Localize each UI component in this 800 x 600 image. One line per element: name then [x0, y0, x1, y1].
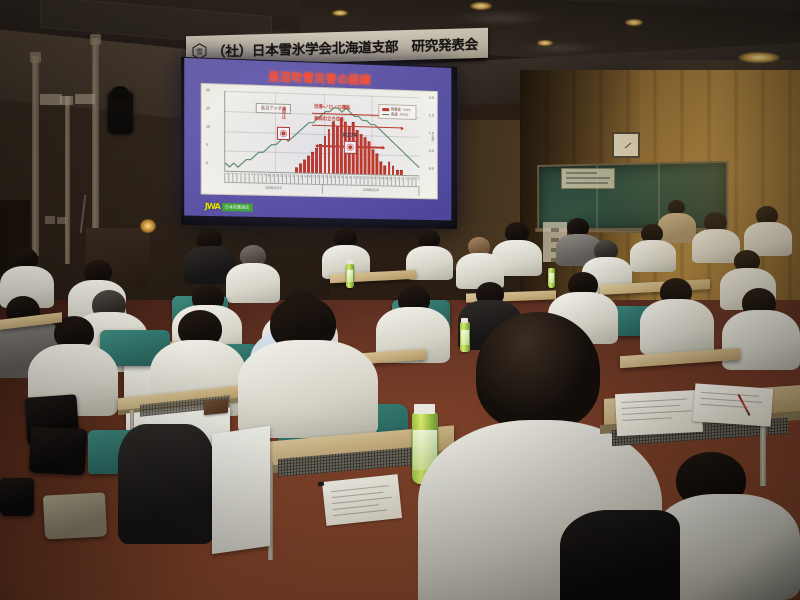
wall-speaker [108, 92, 133, 134]
wall-plate [60, 96, 73, 105]
wall-outlet [57, 217, 66, 224]
ceiling-downlight [332, 10, 348, 16]
bag[interactable] [0, 478, 34, 516]
ceiling-downlight [470, 2, 492, 10]
road-closure-vertical: 通行止 [281, 107, 287, 119]
y-tick-left: 20 [206, 88, 210, 92]
chart-legend: 降雪量（cm） 風速（m/s） [378, 104, 416, 120]
traffic-annotation: 渋滞・ノロノロ運転 [314, 104, 350, 111]
chalkboard-sign [561, 168, 615, 189]
ceiling-downlight [625, 19, 643, 26]
wall-pillar [65, 96, 70, 264]
legend-swatch-line [382, 114, 389, 115]
bottle-cap [414, 404, 435, 414]
slide-chart: 20 15 10 5 0 2.0 1.5 1.0 0.5 0.0 気圧 [201, 83, 438, 200]
y-tick-right: 2.0 [429, 96, 434, 100]
wall-pillar-cap [30, 52, 41, 63]
y-tick-right: 1.5 [429, 113, 434, 117]
bag[interactable] [43, 492, 107, 539]
bottle[interactable] [346, 264, 354, 288]
bottle-cap [461, 318, 468, 323]
bottle[interactable] [548, 268, 555, 288]
conference-room-photo: 雪 （社）日本雪氷学会北海道支部 研究発表会 長沼吹雪災害の経緯 20 15 1… [0, 0, 800, 600]
bottle-cap [347, 260, 353, 264]
handout-paper[interactable] [322, 474, 402, 526]
projected-slide: 長沼吹雪災害の経緯 20 15 10 5 0 2.0 1.5 1.0 0.5 0… [184, 58, 451, 221]
handout-paper[interactable] [615, 390, 703, 436]
ceiling-downlight [537, 40, 553, 46]
y-tick-left: 10 [206, 125, 210, 129]
jwa-caption: 日本気象協会 [222, 203, 253, 212]
bottle[interactable] [460, 322, 470, 352]
wall-plate [40, 94, 62, 105]
desk-leg [760, 416, 766, 486]
wall-pillar [32, 56, 39, 256]
wall-clock [612, 132, 640, 158]
y-tick-right: 0.5 [429, 149, 434, 153]
notebook[interactable] [204, 399, 228, 416]
legend-item-line: 風速（m/s） [382, 112, 412, 118]
y-tick-right: 0.0 [429, 167, 434, 171]
ceiling-vent [520, 42, 598, 54]
x-tick: 47 [415, 177, 419, 186]
handout-paper[interactable] [693, 383, 773, 426]
x-date: 2008/2/24 [323, 185, 419, 196]
y-tick-left: 15 [206, 106, 210, 110]
podium-lamp [140, 219, 156, 233]
wall-plate [75, 94, 95, 104]
route-label: R274 [343, 133, 357, 139]
wall-pillar-cap [90, 34, 101, 45]
legend-label-line: 風速（m/s） [391, 112, 410, 118]
road-closure-sign-icon [277, 127, 290, 140]
jwa-mark: JWA [205, 202, 220, 211]
legend-swatch-bar [382, 108, 389, 111]
standing-annotation: 車両の立ち往生 [314, 116, 345, 123]
y-axis-right-label: 気圧 [431, 135, 435, 141]
svg-text:雪: 雪 [196, 48, 203, 56]
route-sign-icon [344, 141, 357, 154]
ceiling-vent [455, 10, 547, 26]
ceiling-downlight [738, 52, 780, 63]
banner-title: （社）日本雪氷学会北海道支部 研究発表会 [212, 33, 478, 60]
y-tick-left: 5 [206, 143, 208, 147]
wall-outlet [45, 216, 55, 224]
desk-modesty-panel [212, 426, 270, 554]
chart-plot-area: 長沼アメダス 渋滞・ノロノロ運転 車両の立ち往生 通行止 R274 降雪量（cm… [224, 91, 419, 177]
y-tick-left: 0 [206, 161, 208, 165]
bag[interactable] [29, 427, 87, 476]
x-date: 2008/2/23 [224, 183, 323, 194]
jwa-logo: JWA 日本気象協会 [205, 202, 253, 212]
